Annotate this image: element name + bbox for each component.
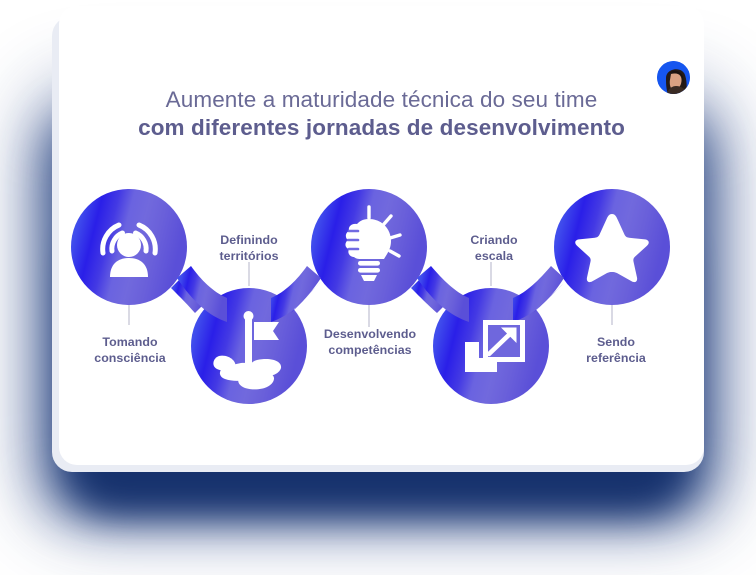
step-label-4-line1: Criando xyxy=(470,233,517,247)
step-label-4: Criando escala xyxy=(437,232,551,264)
journey-diagram xyxy=(59,150,704,450)
avatar-photo xyxy=(657,61,690,94)
title-line-2: com diferentes jornadas de desenvolvimen… xyxy=(59,114,704,142)
step-label-3: Desenvolvendo competências xyxy=(300,326,440,358)
step-label-1: Tomando consciência xyxy=(69,334,191,366)
step-label-5-line2: referência xyxy=(557,350,675,366)
step-label-2-line1: Definindo xyxy=(220,233,278,247)
screenshot-stage: Aumente a maturidade técnica do seu time… xyxy=(0,0,756,575)
step-label-1-line2: consciência xyxy=(69,350,191,366)
page-title: Aumente a maturidade técnica do seu time… xyxy=(59,86,704,142)
avatar[interactable] xyxy=(654,58,692,96)
step-label-1-line1: Tomando xyxy=(102,335,157,349)
step-label-3-line1: Desenvolvendo xyxy=(324,327,416,341)
step-label-2: Definindo territórios xyxy=(190,232,308,264)
step-label-4-line2: escala xyxy=(437,248,551,264)
step-label-2-line2: territórios xyxy=(190,248,308,264)
step-label-5-line1: Sendo xyxy=(597,335,635,349)
step-label-3-line2: competências xyxy=(300,342,440,358)
step-label-5: Sendo referência xyxy=(557,334,675,366)
title-line-1: Aumente a maturidade técnica do seu time xyxy=(59,86,704,114)
